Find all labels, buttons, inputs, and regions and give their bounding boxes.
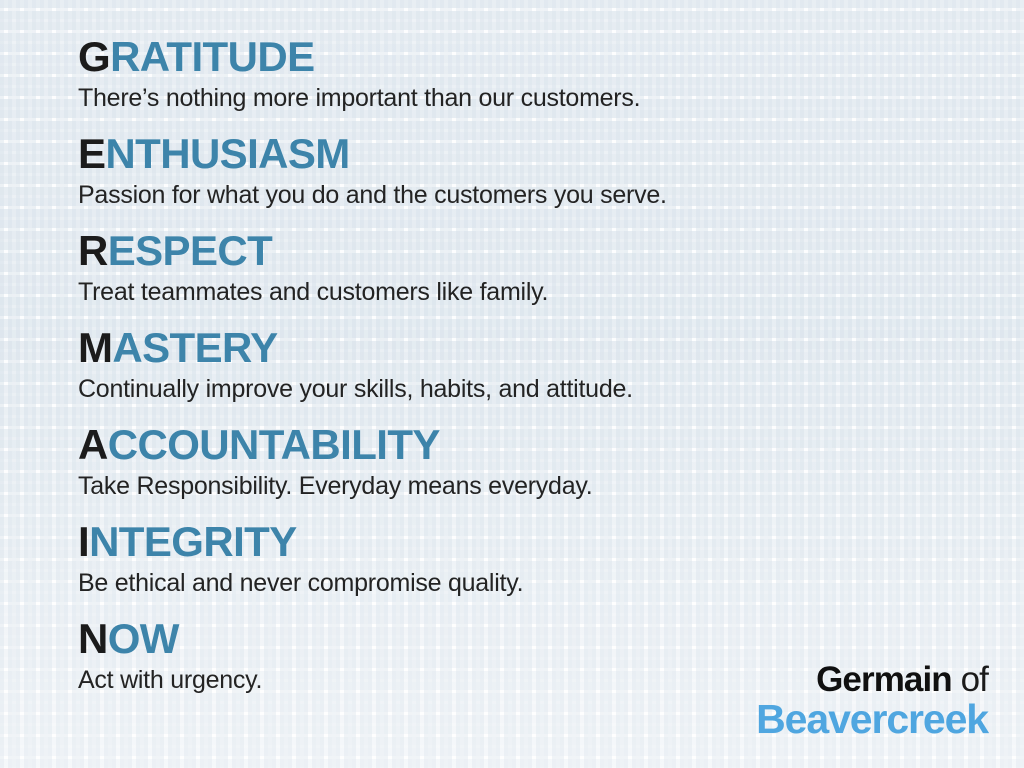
- value-initial-letter: N: [78, 615, 108, 662]
- core-values-list: GRATITUDE There’s nothing more important…: [78, 36, 978, 694]
- values-poster: GRATITUDE There’s nothing more important…: [0, 0, 1024, 768]
- value-initial-letter: R: [78, 227, 108, 274]
- value-initial-letter: M: [78, 324, 112, 371]
- value-initial-letter: I: [78, 518, 89, 565]
- value-heading-now: NOW: [78, 618, 978, 660]
- value-description-accountability: Take Responsibility. Everyday means ever…: [78, 472, 978, 500]
- value-initial-letter: E: [78, 130, 105, 177]
- logo-location-name: Beavercreek: [756, 699, 988, 740]
- value-initial-letter: A: [78, 421, 108, 468]
- value-heading-respect: RESPECT: [78, 230, 978, 272]
- value-description-gratitude: There’s nothing more important than our …: [78, 84, 978, 112]
- value-description-respect: Treat teammates and customers like famil…: [78, 278, 978, 306]
- value-block-enthusiasm: ENTHUSIASM Passion for what you do and t…: [78, 133, 978, 209]
- value-heading-mastery: MASTERY: [78, 327, 978, 369]
- value-heading-remainder: ESPECT: [108, 227, 272, 274]
- value-heading-enthusiasm: ENTHUSIASM: [78, 133, 978, 175]
- value-heading-remainder: ASTERY: [112, 324, 277, 371]
- value-block-accountability: ACCOUNTABILITY Take Responsibility. Ever…: [78, 424, 978, 500]
- value-block-respect: RESPECT Treat teammates and customers li…: [78, 230, 978, 306]
- dealership-logo: Germain of Beavercreek: [756, 662, 988, 740]
- value-block-gratitude: GRATITUDE There’s nothing more important…: [78, 36, 978, 112]
- value-heading-accountability: ACCOUNTABILITY: [78, 424, 978, 466]
- value-heading-gratitude: GRATITUDE: [78, 36, 978, 78]
- value-heading-remainder: NTEGRITY: [89, 518, 297, 565]
- value-initial-letter: G: [78, 33, 110, 80]
- value-description-enthusiasm: Passion for what you do and the customer…: [78, 181, 978, 209]
- logo-connector-word: of: [952, 660, 988, 699]
- value-heading-remainder: NTHUSIASM: [105, 130, 349, 177]
- value-heading-remainder: CCOUNTABILITY: [108, 421, 440, 468]
- logo-line-primary: Germain of: [756, 662, 988, 697]
- value-heading-remainder: OW: [108, 615, 179, 662]
- value-description-integrity: Be ethical and never compromise quality.: [78, 569, 978, 597]
- value-description-mastery: Continually improve your skills, habits,…: [78, 375, 978, 403]
- logo-brand-name: Germain: [816, 660, 952, 699]
- value-block-integrity: INTEGRITY Be ethical and never compromis…: [78, 521, 978, 597]
- value-heading-integrity: INTEGRITY: [78, 521, 978, 563]
- value-block-mastery: MASTERY Continually improve your skills,…: [78, 327, 978, 403]
- value-heading-remainder: RATITUDE: [110, 33, 314, 80]
